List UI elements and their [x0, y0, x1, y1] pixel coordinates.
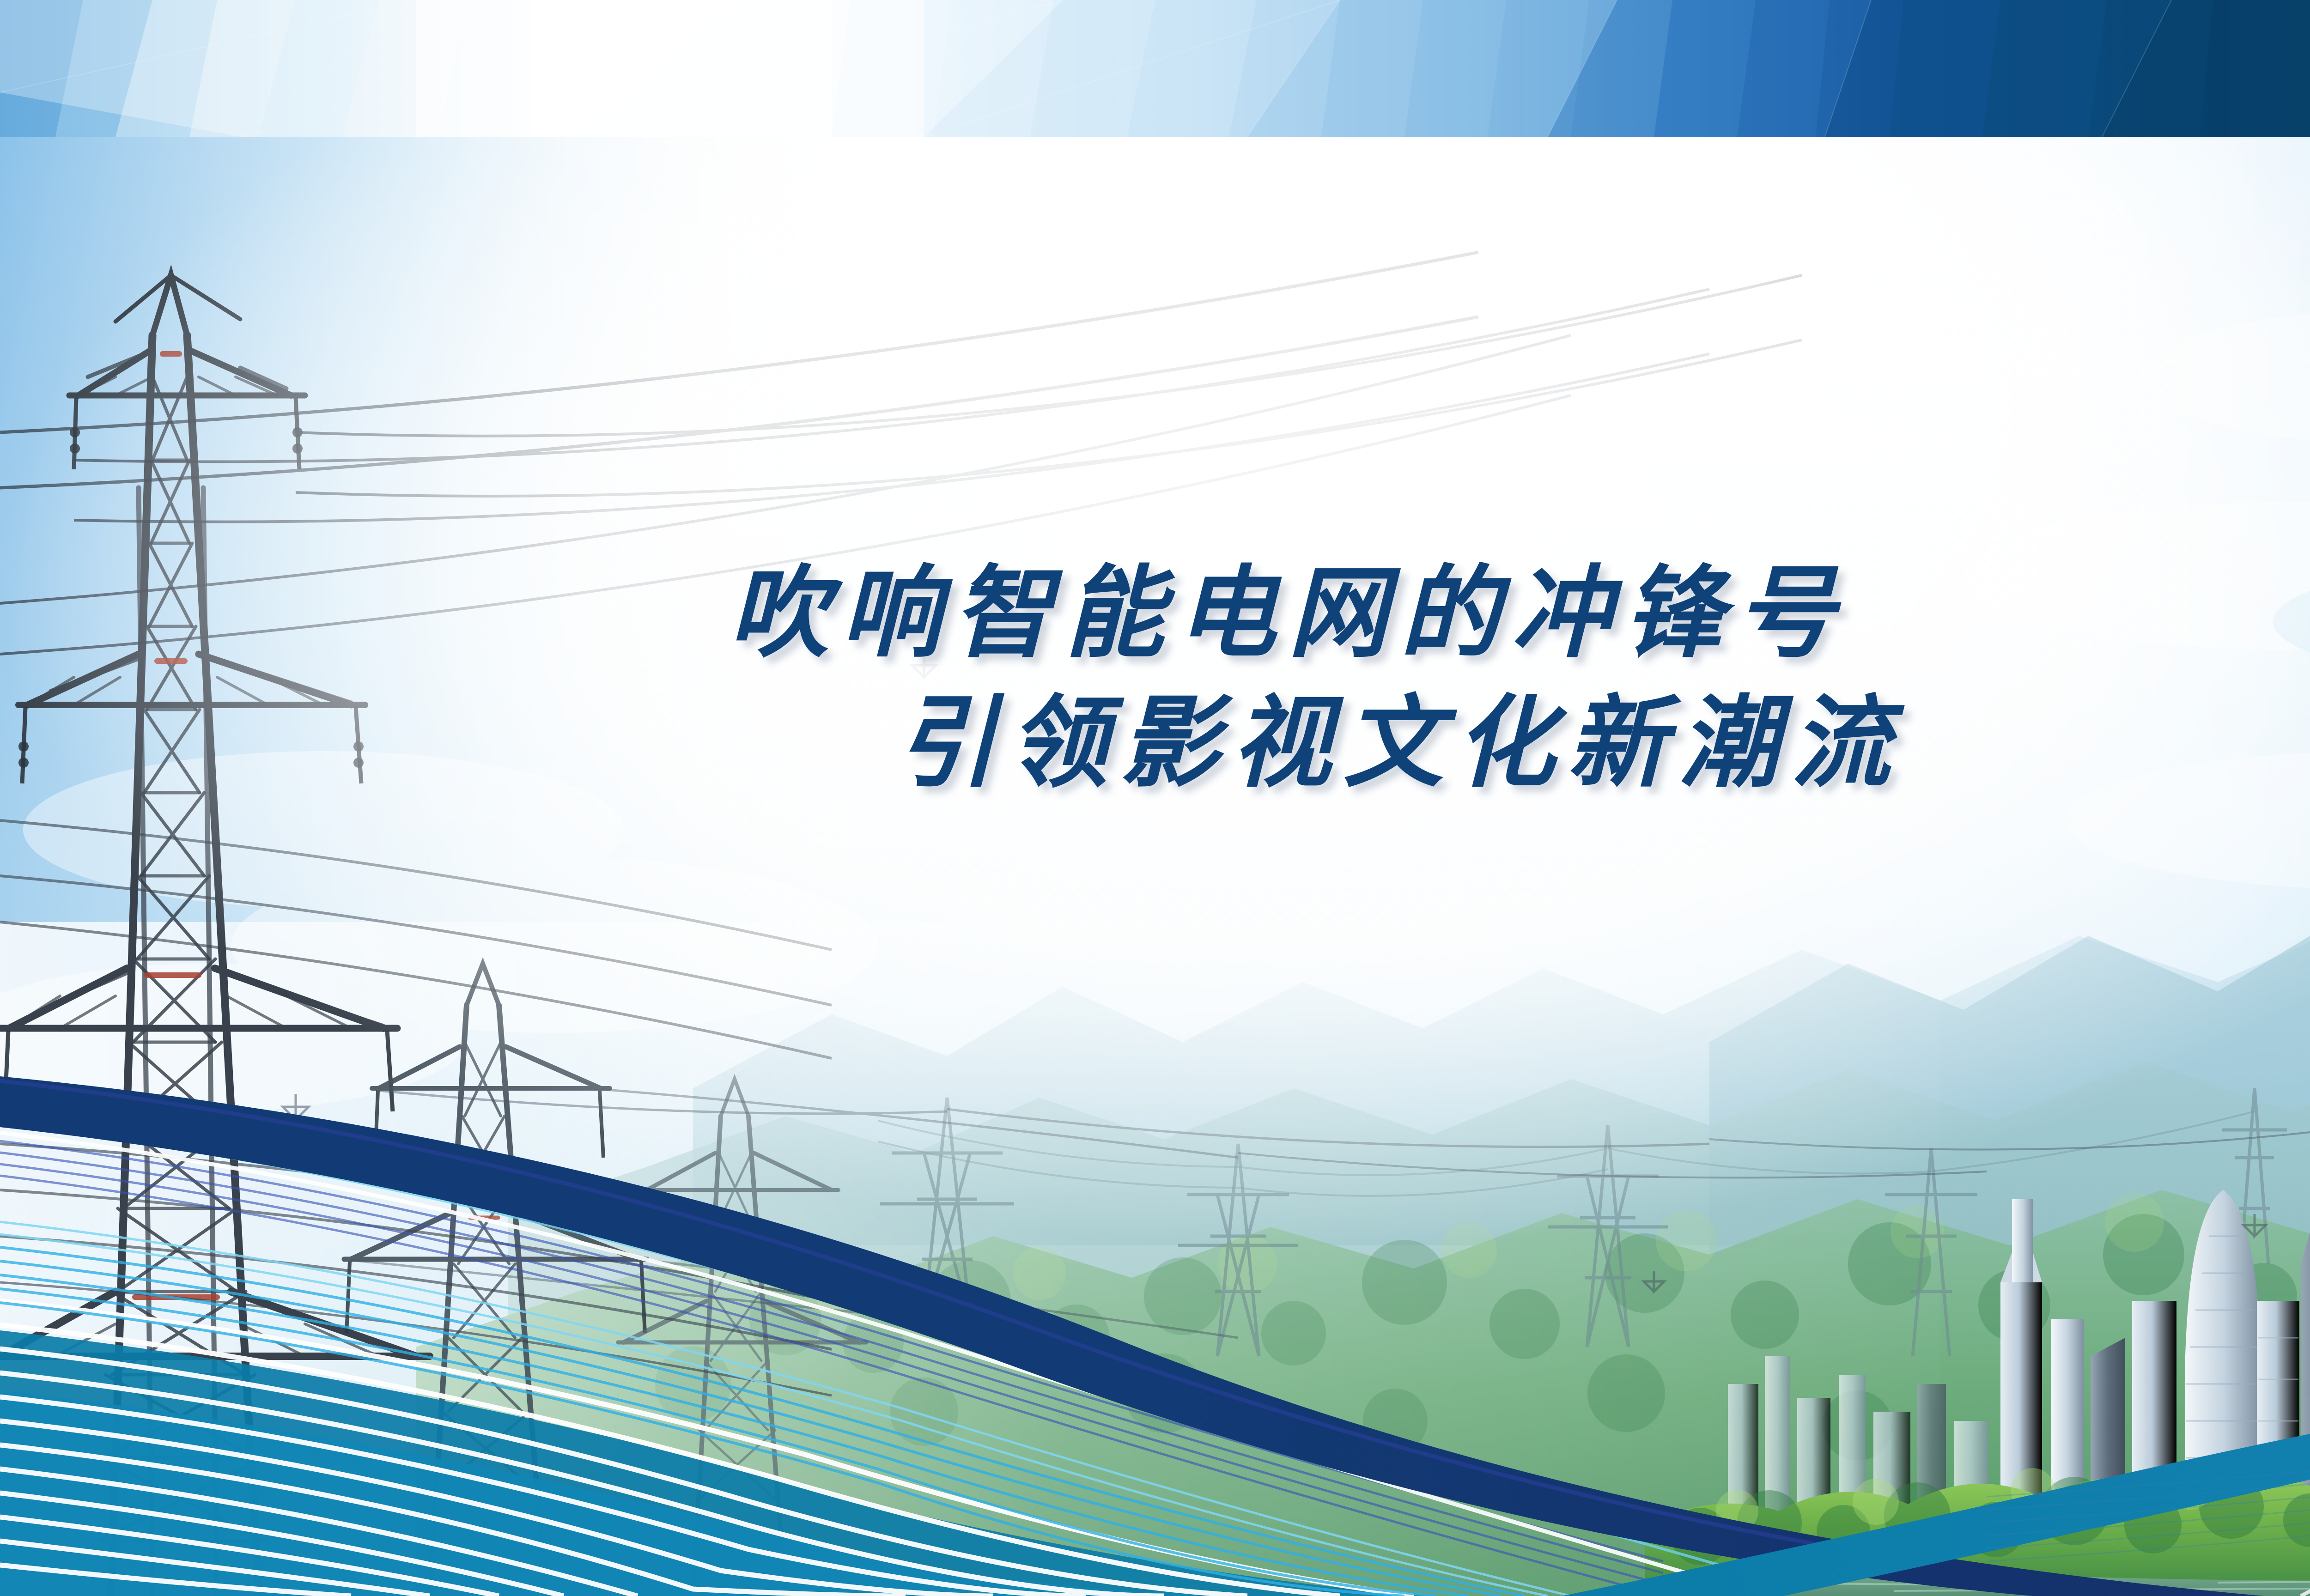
top-polygon-band: [0, 0, 2310, 137]
photo-area: [0, 137, 2310, 1596]
top-polygon-band-graphic: [0, 0, 2310, 137]
scene-graphic: [0, 137, 2310, 1596]
poster-canvas: 吹响智能电网的冲锋号 引领影视文化新潮流: [0, 0, 2310, 1596]
